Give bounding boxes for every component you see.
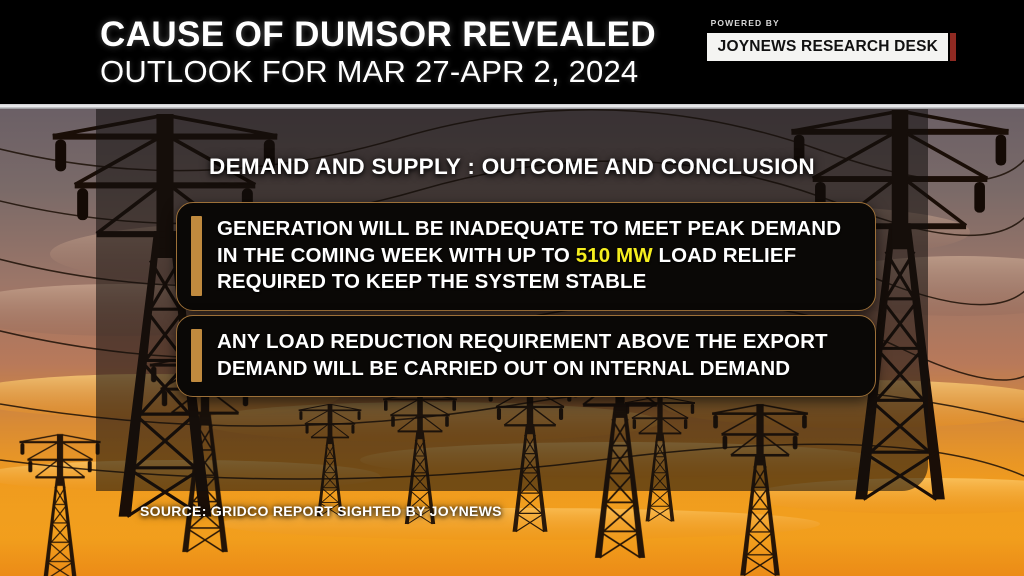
brand-block: POWERED BY JOYNEWS RESEARCH DESK: [707, 18, 956, 61]
header-bar: CAUSE OF DUMSOR REVEALED OUTLOOK FOR MAR…: [0, 0, 1024, 104]
card-text: GENERATION WILL BE INADEQUATE TO MEET PE…: [217, 216, 859, 296]
title-block: CAUSE OF DUMSOR REVEALED OUTLOOK FOR MAR…: [100, 17, 656, 90]
broadcast-graphic: CAUSE OF DUMSOR REVEALED OUTLOOK FOR MAR…: [0, 0, 1024, 576]
brand-row: JOYNEWS RESEARCH DESK: [707, 33, 956, 61]
header-divider: [0, 104, 1024, 109]
card-highlight-value: 510 MW: [576, 244, 653, 267]
card-accent-bar: [191, 216, 202, 296]
source-attribution: SOURCE: GRIDCO REPORT SIGHTED BY JOYNEWS: [140, 503, 502, 519]
brand-name: JOYNEWS RESEARCH DESK: [707, 33, 948, 61]
brand-accent-bar: [950, 33, 956, 61]
card-text-before: ANY LOAD REDUCTION REQUIREMENT ABOVE THE…: [217, 330, 828, 380]
conclusion-card: GENERATION WILL BE INADEQUATE TO MEET PE…: [176, 202, 876, 311]
page-title: CAUSE OF DUMSOR REVEALED: [100, 17, 656, 53]
powered-by-label: POWERED BY: [707, 18, 956, 28]
section-heading: DEMAND AND SUPPLY : OUTCOME AND CONCLUSI…: [0, 154, 1024, 180]
conclusion-card: ANY LOAD REDUCTION REQUIREMENT ABOVE THE…: [176, 315, 876, 397]
content-area: DEMAND AND SUPPLY : OUTCOME AND CONCLUSI…: [0, 104, 1024, 576]
card-accent-bar: [191, 329, 202, 382]
card-text: ANY LOAD REDUCTION REQUIREMENT ABOVE THE…: [217, 329, 859, 382]
page-subtitle: OUTLOOK FOR MAR 27-APR 2, 2024: [100, 55, 656, 90]
